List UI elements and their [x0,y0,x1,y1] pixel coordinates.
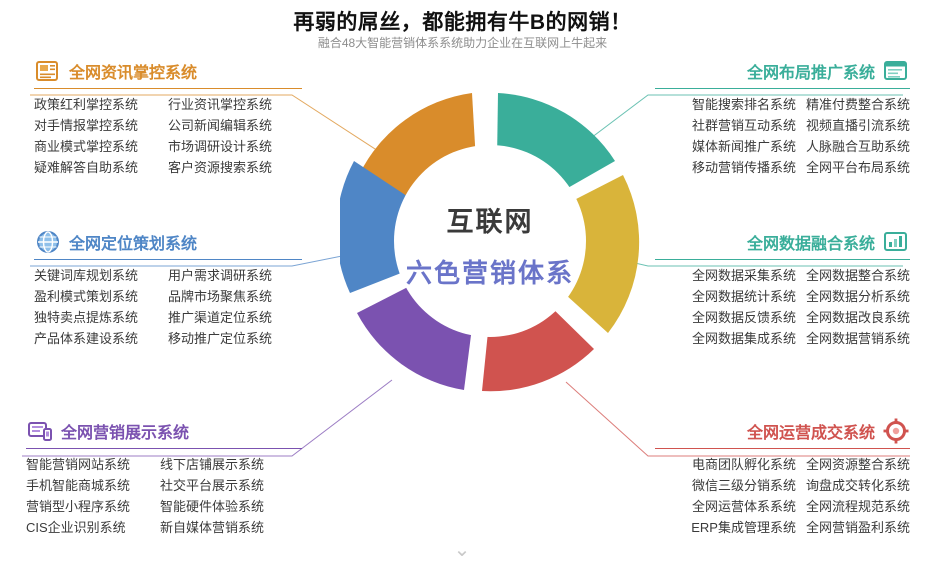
page-title: 再弱的屌丝，都能拥有牛B的网销！ [0,6,925,36]
block-rows: 全网数据采集系统全网数据整合系统 全网数据统计系统全网数据分析系统 全网数据反馈… [655,265,910,349]
chevron-down-icon[interactable]: ⌄ [447,540,477,560]
block-divider [26,448,302,449]
item-col1: 手机智能商城系统 [26,475,160,496]
globe-icon [34,229,62,255]
item-col2: 智能硬件体验系统 [160,496,264,517]
item-col2: 全网数据整合系统 [806,265,910,286]
block-layout-promotion[interactable]: 全网布局推广系统 智能搜索排名系统精准付费整合系统 社群营销互动系统视频直播引流… [655,58,910,178]
item-col1: 移动营销传播系统 [692,157,796,178]
block-info-control[interactable]: 全网资讯掌控系统 政策红利掌控系统行业资讯掌控系统 对手情报掌控系统公司新闻编辑… [34,58,302,178]
item-col1: CIS企业识别系统 [26,517,160,538]
item-col1: 疑难解答自助系统 [34,157,168,178]
block-header: 全网布局推广系统 [655,58,910,84]
item-col2: 公司新闻编辑系统 [168,115,272,136]
page-subtitle: 融合48大智能营销体系系统助力企业在互联网上牛起来 [0,34,925,51]
item-col1: 全网数据采集系统 [692,265,796,286]
item-col2: 全网营销盈利系统 [806,517,910,538]
item-col2: 移动推广定位系统 [168,328,272,349]
list-item[interactable]: 全网数据反馈系统全网数据改良系统 [655,307,910,328]
block-header: 全网数据融合系统 [655,229,910,255]
block-data-fusion[interactable]: 全网数据融合系统 全网数据采集系统全网数据整合系统 全网数据统计系统全网数据分析… [655,229,910,349]
item-col2: 品牌市场聚焦系统 [168,286,272,307]
item-col2: 精准付费整合系统 [806,94,910,115]
item-col1: 社群营销互动系统 [692,115,796,136]
item-col2: 行业资讯掌控系统 [168,94,272,115]
block-positioning-planning[interactable]: 全网定位策划系统 关键词库规划系统用户需求调研系统 盈利模式策划系统品牌市场聚焦… [34,229,302,349]
item-col2: 视频直播引流系统 [806,115,910,136]
block-header: 全网资讯掌控系统 [34,58,302,84]
list-item[interactable]: 产品体系建设系统移动推广定位系统 [34,328,302,349]
item-col1: 全网数据反馈系统 [692,307,796,328]
item-col1: 盈利模式策划系统 [34,286,168,307]
item-col2: 全网资源整合系统 [806,454,910,475]
item-col1: 政策红利掌控系统 [34,94,168,115]
list-item[interactable]: 微信三级分销系统询盘成交转化系统 [655,475,910,496]
list-item[interactable]: 社群营销互动系统视频直播引流系统 [655,115,910,136]
item-col1: 全网数据统计系统 [692,286,796,307]
block-title: 全网定位策划系统 [69,230,197,254]
item-col1: 电商团队孵化系统 [692,454,796,475]
item-col2: 推广渠道定位系统 [168,307,272,328]
item-col2: 用户需求调研系统 [168,265,272,286]
list-item[interactable]: 全网数据统计系统全网数据分析系统 [655,286,910,307]
list-item[interactable]: 手机智能商城系统社交平台展示系统 [26,475,302,496]
item-col1: 微信三级分销系统 [692,475,796,496]
list-item[interactable]: 商业模式掌控系统市场调研设计系统 [34,136,302,157]
list-item[interactable]: 全网运营体系系统全网流程规范系统 [655,496,910,517]
block-divider [655,259,910,260]
gear-icon [882,418,910,444]
block-header: 全网定位策划系统 [34,229,302,255]
newspaper-icon [34,58,62,84]
item-col2: 客户资源搜索系统 [168,157,272,178]
block-divider [655,448,910,449]
list-item[interactable]: 全网数据采集系统全网数据整合系统 [655,265,910,286]
item-col2: 人脉融合互助系统 [806,136,910,157]
item-col2: 线下店铺展示系统 [160,454,264,475]
list-item[interactable]: ERP集成管理系统全网营销盈利系统 [655,517,910,538]
block-operation-deal[interactable]: 全网运营成交系统 电商团队孵化系统全网资源整合系统 微信三级分销系统询盘成交转化… [655,418,910,538]
block-header: 全网营销展示系统 [26,418,302,444]
list-item[interactable]: 移动营销传播系统全网平台布局系统 [655,157,910,178]
block-title: 全网布局推广系统 [747,59,875,83]
block-rows: 政策红利掌控系统行业资讯掌控系统 对手情报掌控系统公司新闻编辑系统 商业模式掌控… [34,94,302,178]
item-col1: 独特卖点提炼系统 [34,307,168,328]
item-col1: 对手情报掌控系统 [34,115,168,136]
item-col1: 营销型小程序系统 [26,496,160,517]
list-item[interactable]: 独特卖点提炼系统推广渠道定位系统 [34,307,302,328]
chart-icon [882,229,910,255]
item-col2: 全网数据营销系统 [806,328,910,349]
list-item[interactable]: 全网数据集成系统全网数据营销系统 [655,328,910,349]
item-col1: 媒体新闻推广系统 [692,136,796,157]
block-rows: 智能搜索排名系统精准付费整合系统 社群营销互动系统视频直播引流系统 媒体新闻推广… [655,94,910,178]
item-col1: 产品体系建设系统 [34,328,168,349]
item-col2: 全网数据改良系统 [806,307,910,328]
list-item[interactable]: 智能搜索排名系统精准付费整合系统 [655,94,910,115]
item-col1: 商业模式掌控系统 [34,136,168,157]
item-col2: 新自媒体营销系统 [160,517,264,538]
item-col1: 全网运营体系系统 [692,496,796,517]
block-title: 全网营销展示系统 [61,419,189,443]
list-item[interactable]: 关键词库规划系统用户需求调研系统 [34,265,302,286]
item-col1: 全网数据集成系统 [692,328,796,349]
item-col1: 关键词库规划系统 [34,265,168,286]
item-col2: 全网流程规范系统 [806,496,910,517]
monitor-icon [26,418,54,444]
block-title: 全网数据融合系统 [747,230,875,254]
list-item[interactable]: CIS企业识别系统新自媒体营销系统 [26,517,302,538]
item-col2: 全网数据分析系统 [806,286,910,307]
item-col2: 市场调研设计系统 [168,136,272,157]
item-col2: 全网平台布局系统 [806,157,910,178]
block-divider [655,88,910,89]
block-rows: 智能营销网站系统线下店铺展示系统 手机智能商城系统社交平台展示系统 营销型小程序… [26,454,302,538]
list-item[interactable]: 智能营销网站系统线下店铺展示系统 [26,454,302,475]
block-rows: 电商团队孵化系统全网资源整合系统 微信三级分销系统询盘成交转化系统 全网运营体系… [655,454,910,538]
block-title: 全网资讯掌控系统 [69,59,197,83]
shutter-wheel-diagram [340,76,640,406]
block-title: 全网运营成交系统 [747,419,875,443]
block-marketing-display[interactable]: 全网营销展示系统 智能营销网站系统线下店铺展示系统 手机智能商城系统社交平台展示… [26,418,302,538]
browser-icon [882,58,910,84]
list-item[interactable]: 盈利模式策划系统品牌市场聚焦系统 [34,286,302,307]
list-item[interactable]: 对手情报掌控系统公司新闻编辑系统 [34,115,302,136]
list-item[interactable]: 营销型小程序系统智能硬件体验系统 [26,496,302,517]
block-header: 全网运营成交系统 [655,418,910,444]
block-divider [34,259,302,260]
item-col1: 智能搜索排名系统 [692,94,796,115]
list-item[interactable]: 媒体新闻推广系统人脉融合互助系统 [655,136,910,157]
item-col1: ERP集成管理系统 [691,517,796,538]
list-item[interactable]: 政策红利掌控系统行业资讯掌控系统 [34,94,302,115]
block-divider [34,88,302,89]
list-item[interactable]: 疑难解答自助系统客户资源搜索系统 [34,157,302,178]
item-col1: 智能营销网站系统 [26,454,160,475]
list-item[interactable]: 电商团队孵化系统全网资源整合系统 [655,454,910,475]
item-col2: 询盘成交转化系统 [806,475,910,496]
item-col2: 社交平台展示系统 [160,475,264,496]
block-rows: 关键词库规划系统用户需求调研系统 盈利模式策划系统品牌市场聚焦系统 独特卖点提炼… [34,265,302,349]
